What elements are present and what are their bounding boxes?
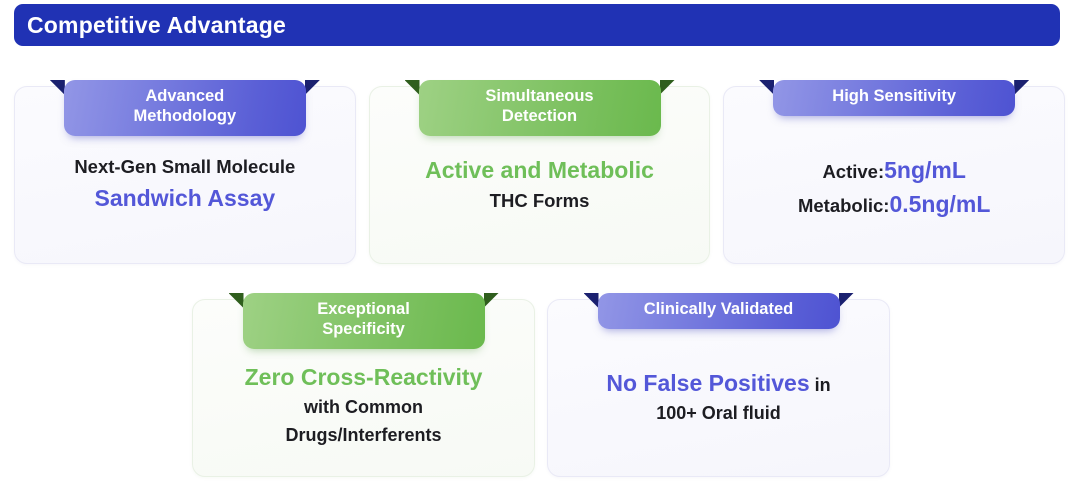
ribbon-fold-left-icon <box>229 293 244 308</box>
card-text-line-2: Sandwich Assay <box>25 183 345 213</box>
highlight-text: No False Positives <box>606 370 809 396</box>
ribbon-label: High Sensitivity <box>773 80 1015 116</box>
ribbon-label-line1: Clinically Validated <box>604 300 834 320</box>
ribbon-label: Simultaneous Detection <box>419 80 661 136</box>
ribbon-fold-left-icon <box>405 80 420 95</box>
ribbon-label: Exceptional Specificity <box>243 293 485 349</box>
card-text-line-1: Zero Cross-Reactivity <box>203 362 524 392</box>
card-metric-active: Active:5ng/mL <box>734 155 1054 185</box>
ribbon-advanced-methodology: Advanced Methodology <box>64 80 306 136</box>
card-text-line-2: THC Forms <box>380 189 700 213</box>
card-advanced-methodology[interactable]: Advanced Methodology Next-Gen Small Mole… <box>14 86 356 264</box>
card-body: Active:5ng/mL Metabolic:0.5ng/mL <box>724 145 1064 220</box>
card-exceptional-specificity[interactable]: Exceptional Specificity Zero Cross-React… <box>192 299 535 477</box>
card-metric-metabolic: Metabolic:0.5ng/mL <box>734 189 1054 219</box>
ribbon-label: Clinically Validated <box>598 293 840 329</box>
card-text-line-2: with Common <box>203 396 524 420</box>
ribbon-label-line2: Methodology <box>70 107 300 127</box>
card-body: No False Positives in 100+ Oral fluid <box>548 358 889 426</box>
ribbon-fold-right-icon <box>660 80 675 95</box>
card-clinically-validated[interactable]: Clinically Validated No False Positives … <box>547 299 890 477</box>
card-text-line-3: Drugs/Interferents <box>203 424 524 448</box>
ribbon-fold-left-icon <box>584 293 599 308</box>
ribbon-label-line2: Detection <box>425 107 655 127</box>
card-body: Active and Metabolic THC Forms <box>370 145 710 214</box>
ribbon-clinically-validated: Clinically Validated <box>598 293 840 329</box>
card-body: Next-Gen Small Molecule Sandwich Assay <box>15 145 355 214</box>
ribbon-fold-right-icon <box>1014 80 1029 95</box>
card-text-line-2: 100+ Oral fluid <box>558 402 879 426</box>
card-simultaneous-detection[interactable]: Simultaneous Detection Active and Metabo… <box>369 86 711 264</box>
card-text-line-1: Active and Metabolic <box>380 155 700 185</box>
page-header-bar: Competitive Advantage <box>14 4 1060 46</box>
ribbon-label-line1: Exceptional <box>249 300 479 320</box>
page-title: Competitive Advantage <box>14 12 286 39</box>
ribbon-label: Advanced Methodology <box>64 80 306 136</box>
ribbon-fold-right-icon <box>484 293 499 308</box>
metric-value: 0.5ng/mL <box>889 191 990 217</box>
cards-row-bottom: Exceptional Specificity Zero Cross-React… <box>192 299 892 477</box>
ribbon-fold-right-icon <box>839 293 854 308</box>
card-body: Zero Cross-Reactivity with Common Drugs/… <box>193 358 534 448</box>
card-high-sensitivity[interactable]: High Sensitivity Active:5ng/mL Metabolic… <box>723 86 1065 264</box>
ribbon-high-sensitivity: High Sensitivity <box>773 80 1015 116</box>
ribbon-exceptional-specificity: Exceptional Specificity <box>243 293 485 349</box>
ribbon-label-line1: Advanced <box>70 87 300 107</box>
ribbon-fold-left-icon <box>50 80 65 95</box>
metric-value: 5ng/mL <box>884 157 966 183</box>
ribbon-fold-right-icon <box>305 80 320 95</box>
ribbon-label-line2: Specificity <box>249 320 479 340</box>
card-text-line-1: Next-Gen Small Molecule <box>25 155 345 179</box>
ribbon-label-line1: Simultaneous <box>425 87 655 107</box>
metric-label: Active: <box>822 161 884 182</box>
metric-label: Metabolic: <box>798 195 889 216</box>
card-text-line-1: No False Positives in <box>558 368 879 398</box>
cards-row-top: Advanced Methodology Next-Gen Small Mole… <box>14 86 1065 264</box>
highlight-suffix: in <box>810 375 831 395</box>
ribbon-simultaneous-detection: Simultaneous Detection <box>419 80 661 136</box>
ribbon-fold-left-icon <box>759 80 774 95</box>
ribbon-label-line1: High Sensitivity <box>779 87 1009 107</box>
